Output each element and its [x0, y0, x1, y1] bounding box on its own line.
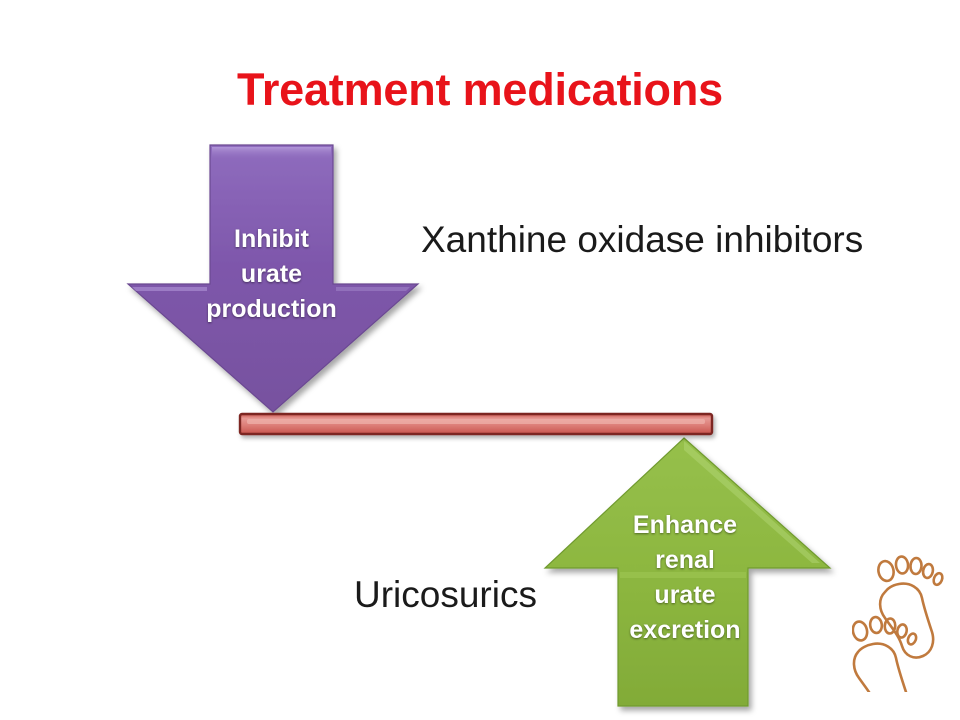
xanthine-oxidase-inhibitors-label: Xanthine oxidase inhibitors: [421, 219, 863, 261]
separator-bar-highlight: [247, 419, 705, 424]
separator-bar: [240, 414, 712, 434]
uricosurics-label: Uricosurics: [354, 574, 537, 616]
purple-arrow-top-highlight: [212, 147, 331, 160]
footprints-icon: [852, 552, 956, 692]
green-arrow-label: Enhance renal urate excretion: [585, 508, 785, 648]
footprint-right-icon: [877, 556, 944, 658]
slide-canvas: Treatment medications: [0, 0, 960, 720]
purple-arrow-label: Inhibit urate production: [178, 222, 365, 327]
